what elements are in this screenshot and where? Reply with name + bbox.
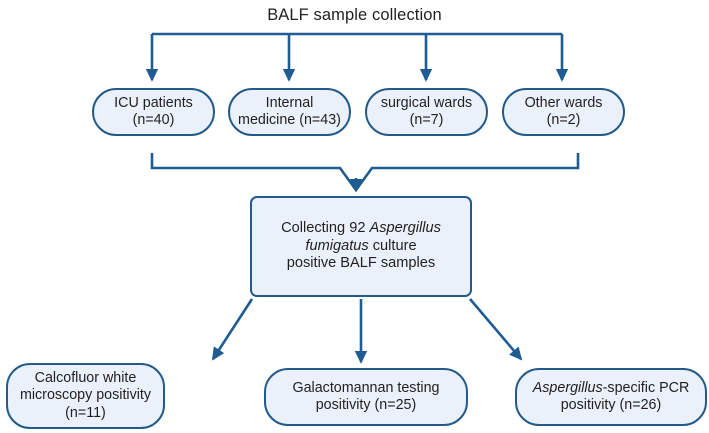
node-internal-medicine-label: Internalmedicine (n=43) [233, 95, 346, 130]
node-calcofluor-white-microscopy[interactable]: Calcofluor whitemicroscopy positivity(n=… [6, 363, 165, 429]
node-icu-patients-label: ICU patients(n=40) [109, 95, 198, 130]
diagram-title: BALF sample collection [0, 6, 709, 25]
node-surgical-wards-line2: (n=7) [410, 112, 444, 128]
node-aspergillus-specific-pcr-label: Aspergillus-specific PCRpositivity (n=26… [528, 380, 695, 415]
calcofluor-line2: microscopy positivity [20, 387, 151, 403]
node-surgical-wards[interactable]: surgical wards(n=7) [365, 88, 488, 136]
node-collecting-samples-label: Collecting 92 Aspergillusfumigatus cultu… [276, 220, 446, 273]
collecting-prefix: Collecting 92 [281, 220, 369, 236]
collecting-species: fumigatus [305, 238, 368, 254]
galactomannan-line2: positivity (n=25) [316, 397, 417, 413]
edges-tier3-fanout [213, 299, 521, 362]
node-other-wards-label: Other wards(n=2) [520, 95, 608, 130]
collecting-line3: positive BALF samples [287, 255, 435, 271]
calcofluor-line3: (n=11) [65, 405, 106, 421]
node-surgical-wards-label: surgical wards(n=7) [376, 95, 477, 130]
node-galactomannan-testing-label: Galactomannan testingpositivity (n=25) [287, 380, 444, 415]
node-internal-medicine-line1: Internal [266, 95, 314, 111]
node-calcofluor-white-microscopy-label: Calcofluor whitemicroscopy positivity(n=… [15, 370, 156, 422]
pcr-genus: Aspergillus [533, 380, 603, 396]
collecting-genus: Aspergillus [370, 220, 441, 236]
flowchart-canvas: BALF sample collection ICU patients(n=40… [0, 0, 709, 433]
node-other-wards[interactable]: Other wards(n=2) [502, 88, 625, 136]
pcr-line1-suffix: -specific PCR [603, 380, 690, 396]
galactomannan-line1: Galactomannan testing [292, 380, 439, 396]
node-surgical-wards-line1: surgical wards [381, 95, 472, 111]
node-internal-medicine-line2: medicine (n=43) [238, 112, 341, 128]
node-other-wards-line1: Other wards [525, 95, 603, 111]
node-other-wards-line2: (n=2) [547, 112, 581, 128]
calcofluor-line1: Calcofluor white [35, 370, 137, 386]
node-icu-patients-line2: (n=40) [133, 112, 175, 128]
edges-tier1-distribution [152, 34, 562, 80]
node-icu-patients-line1: ICU patients [114, 95, 193, 111]
node-galactomannan-testing[interactable]: Galactomannan testingpositivity (n=25) [264, 368, 468, 426]
pcr-line2: positivity (n=26) [561, 397, 662, 413]
node-aspergillus-specific-pcr[interactable]: Aspergillus-specific PCRpositivity (n=26… [515, 368, 707, 426]
node-internal-medicine[interactable]: Internalmedicine (n=43) [228, 88, 351, 136]
collecting-culture-word: culture [369, 238, 417, 254]
node-collecting-samples[interactable]: Collecting 92 Aspergillusfumigatus cultu… [250, 196, 472, 297]
node-icu-patients[interactable]: ICU patients(n=40) [92, 88, 215, 136]
edges-tier1-merge [152, 153, 578, 190]
